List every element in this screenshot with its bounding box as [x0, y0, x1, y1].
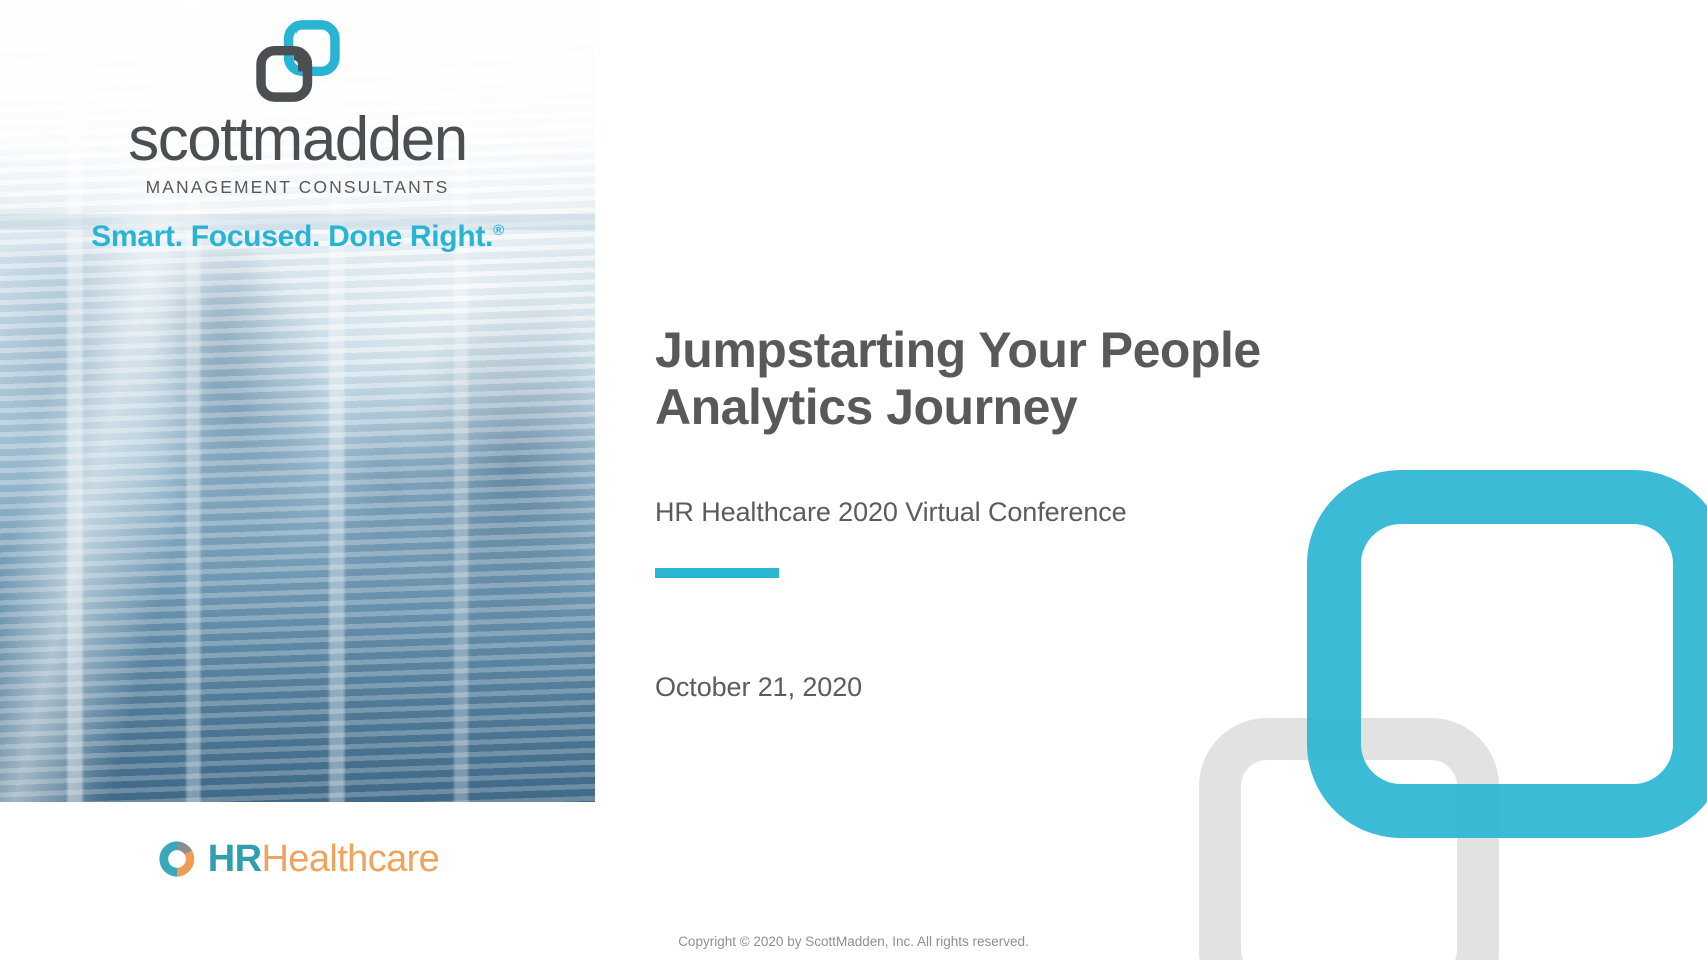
copyright-notice: Copyright © 2020 by ScottMadden, Inc. Al… [0, 934, 1707, 949]
registered-trademark-icon: ® [493, 222, 504, 239]
scottmadden-logo-lockup: scottmadden MANAGEMENT CONSULTANTS Smart… [0, 18, 595, 254]
slide-date: October 21, 2020 [655, 672, 862, 703]
hr-healthcare-wordmark: HRHealthcare [208, 840, 439, 878]
slide-title: Jumpstarting Your People Analytics Journ… [655, 322, 1375, 436]
slide-content-area: Jumpstarting Your People Analytics Journ… [655, 0, 1555, 960]
hr-healthcare-logo-lockup: HRHealthcare [0, 838, 595, 880]
scottmadden-interlocking-squares-icon [255, 18, 341, 104]
title-slide: scottmadden MANAGEMENT CONSULTANTS Smart… [0, 0, 1707, 960]
hr-healthcare-hr-text: HR [208, 838, 262, 880]
tagline-text: Smart. Focused. Done Right. [91, 220, 493, 253]
cyan-accent-rule [655, 568, 779, 578]
hr-healthcare-healthcare-text: Healthcare [261, 838, 439, 880]
scottmadden-descriptor: MANAGEMENT CONSULTANTS [0, 177, 595, 198]
hr-healthcare-swirl-icon [156, 838, 198, 880]
slide-subtitle: HR Healthcare 2020 Virtual Conference [655, 497, 1127, 528]
scottmadden-wordmark: scottmadden [0, 110, 595, 170]
scottmadden-tagline: Smart. Focused. Done Right.® [0, 220, 595, 254]
